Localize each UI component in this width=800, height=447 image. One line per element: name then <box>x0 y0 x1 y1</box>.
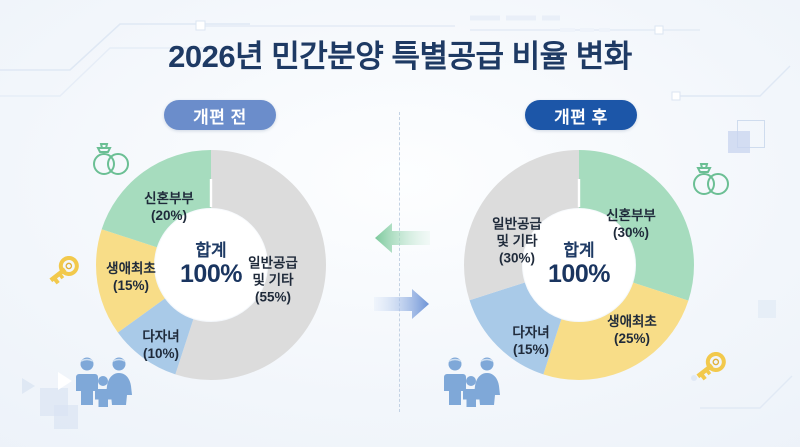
hub-label-after: 합계 <box>563 241 594 261</box>
label-general-before-pct: (55%) <box>248 289 298 306</box>
deco-square-soft-right-lower <box>758 300 776 318</box>
label-multichild-before-pct: (10%) <box>142 346 179 363</box>
wedding-rings-icon <box>689 160 733 198</box>
label-multichild-after: 다자녀 (15%) <box>512 325 549 359</box>
label-multichild-before: 다자녀 (10%) <box>142 329 179 363</box>
arrow-left-green <box>374 222 430 259</box>
hub-value-before: 100% <box>180 261 242 289</box>
deco-triangle-outline <box>22 378 35 394</box>
family-icon-after <box>440 355 502 412</box>
label-general-before-name2: 및 기타 <box>248 273 298 290</box>
hub-value-after: 100% <box>548 261 610 289</box>
label-newlywed-before-name: 신혼부부 <box>144 191 194 208</box>
badge-before-reform: 개편 전 <box>164 100 276 130</box>
label-multichild-after-name: 다자녀 <box>512 325 549 342</box>
infographic-canvas: 2026년 민간분양 특별공급 비율 변화 개편 전 개편 후 합 <box>0 0 800 447</box>
deco-triangle-white <box>58 372 72 390</box>
wedding-rings-icon-before <box>89 140 133 183</box>
family-icon <box>440 355 502 407</box>
label-general-after: 일반공급 및 기타 (30%) <box>492 217 542 268</box>
deco-square-outline-top-right <box>737 120 765 148</box>
arrow-right-blue <box>374 288 430 325</box>
label-multichild-after-pct: (15%) <box>512 342 549 359</box>
arrow-right-icon <box>374 288 430 320</box>
key-icon <box>48 256 86 294</box>
donut-chart-after: 합계 100% 신혼부부 (30%) 생애최초 (25%) 다자녀 (15%) … <box>464 150 694 380</box>
center-divider <box>399 112 400 412</box>
label-firsthome-after-pct: (25%) <box>607 331 657 348</box>
wedding-rings-icon <box>89 140 133 178</box>
label-firsthome-after-name: 생애최초 <box>607 314 657 331</box>
page-title: 2026년 민간분양 특별공급 비율 변화 <box>0 38 800 75</box>
label-newlywed-after-pct: (30%) <box>606 225 656 242</box>
wedding-rings-icon-after <box>689 160 733 203</box>
label-general-after-name2: 및 기타 <box>492 234 542 251</box>
label-firsthome-before-name: 생애최초 <box>106 261 156 278</box>
label-general-before: 일반공급 및 기타 (55%) <box>248 256 298 307</box>
label-newlywed-after: 신혼부부 (30%) <box>606 208 656 242</box>
label-newlywed-before: 신혼부부 (20%) <box>144 191 194 225</box>
hub-label-before: 합계 <box>195 241 226 261</box>
donut-chart-before: 합계 100% 신혼부부 (20%) 생애최초 (15%) 다자녀 (10%) … <box>96 150 326 380</box>
key-icon-after <box>695 352 733 395</box>
label-general-after-pct: (30%) <box>492 250 542 267</box>
key-icon <box>695 352 733 390</box>
key-icon-before <box>48 256 86 299</box>
label-firsthome-after: 생애최초 (25%) <box>607 314 657 348</box>
label-multichild-before-name: 다자녀 <box>142 329 179 346</box>
deco-square-filled-top-right <box>728 131 750 153</box>
label-firsthome-before-pct: (15%) <box>106 278 156 295</box>
label-firsthome-before: 생애최초 (15%) <box>106 261 156 295</box>
deco-square-soft-bottom-left <box>40 388 68 416</box>
family-icon <box>72 355 134 407</box>
label-general-after-name1: 일반공급 <box>492 217 542 234</box>
arrow-left-icon <box>374 222 430 254</box>
family-icon-before <box>72 355 134 412</box>
label-newlywed-after-name: 신혼부부 <box>606 208 656 225</box>
label-general-before-name1: 일반공급 <box>248 256 298 273</box>
label-newlywed-before-pct: (20%) <box>144 208 194 225</box>
badge-after-reform: 개편 후 <box>525 100 637 130</box>
